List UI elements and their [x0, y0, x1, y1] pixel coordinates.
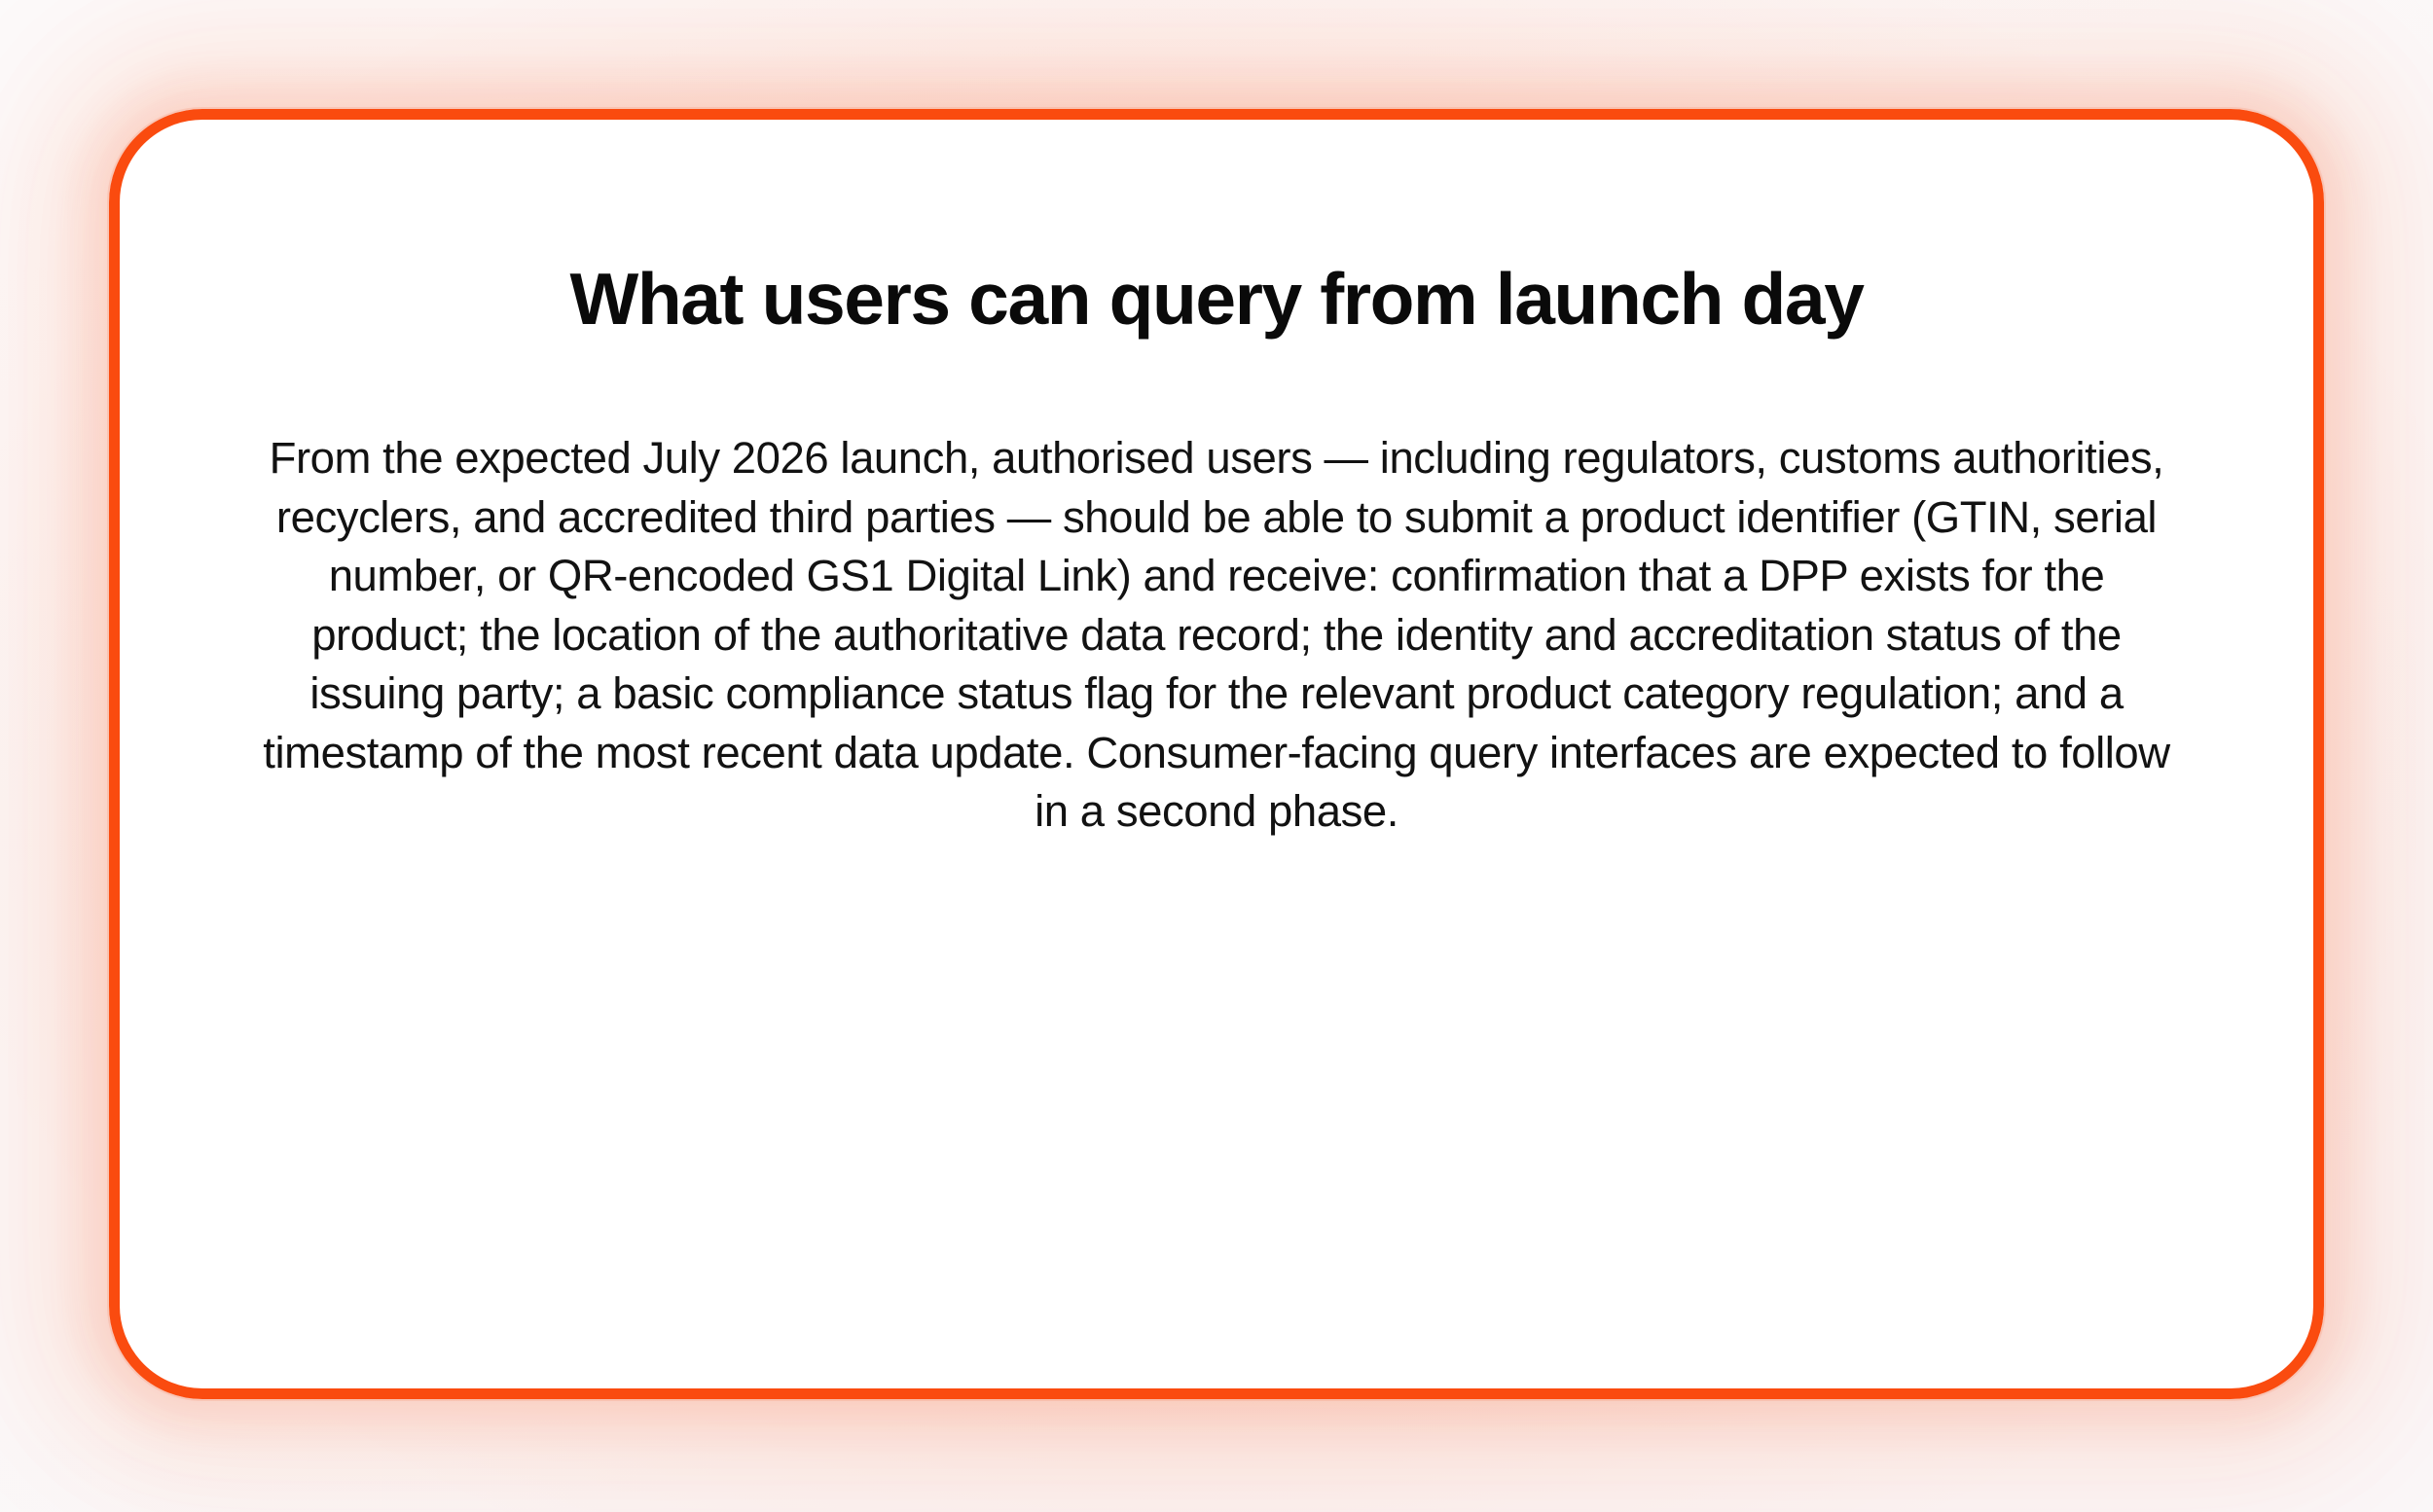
content-card: What users can query from launch day Fro…	[109, 109, 2324, 1399]
card-body-text: From the expected July 2026 launch, auth…	[256, 340, 2178, 842]
card-title: What users can query from launch day	[256, 258, 2178, 340]
slide-canvas: What users can query from launch day Fro…	[0, 0, 2433, 1512]
card-content: What users can query from launch day Fro…	[256, 120, 2178, 842]
